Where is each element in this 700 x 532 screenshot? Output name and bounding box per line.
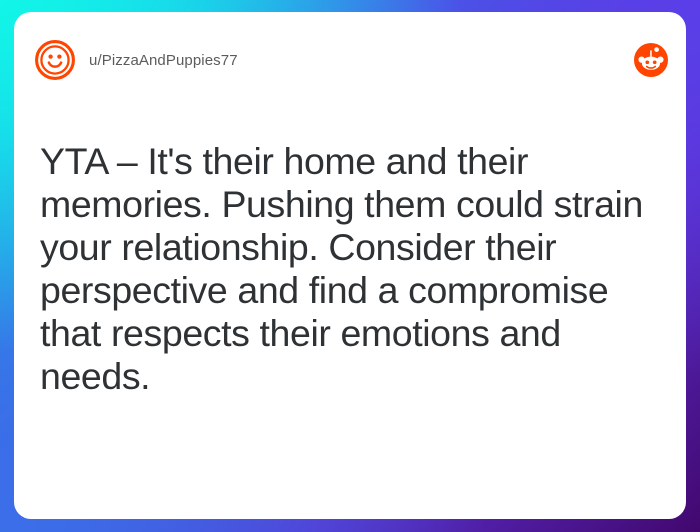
reddit-snoo-logo-icon[interactable] — [634, 43, 668, 77]
card-header: u/PizzaAndPuppies77 — [14, 12, 686, 108]
username-label: u/PizzaAndPuppies77 — [89, 52, 238, 69]
comment-text: YTA – It's their home and their memories… — [40, 140, 646, 398]
screen-root: u/PizzaAndPuppies77 YTA – It's their hom… — [0, 0, 700, 532]
card-body: YTA – It's their home and their memories… — [40, 140, 646, 398]
smiley-face-avatar-icon[interactable] — [34, 39, 76, 81]
reddit-comment-card: u/PizzaAndPuppies77 YTA – It's their hom… — [14, 12, 686, 519]
